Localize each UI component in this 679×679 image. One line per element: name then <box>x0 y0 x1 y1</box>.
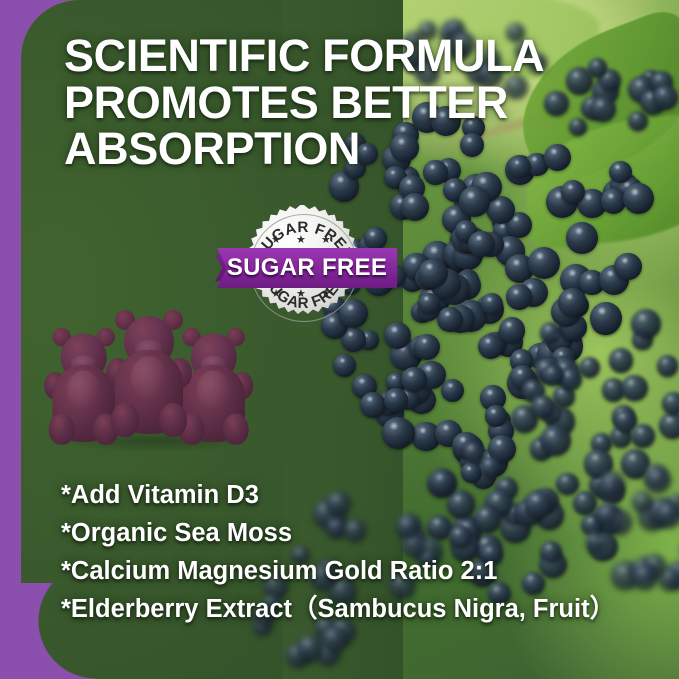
berry <box>653 85 678 110</box>
berry <box>579 357 600 378</box>
badge-ribbon-text: SUGAR FREE <box>217 248 397 288</box>
feature-list: *Add Vitamin D3 *Organic Sea Moss *Calci… <box>61 477 615 629</box>
berry <box>418 259 448 289</box>
content-panel: SCIENTIFIC FORMULA PROMOTES BETTER ABSOR… <box>21 0 679 679</box>
berry <box>528 247 561 280</box>
berry <box>631 309 662 340</box>
berry <box>418 293 439 314</box>
berry <box>485 405 506 426</box>
berry <box>657 355 679 377</box>
headline-line-2: PROMOTES BETTER <box>64 80 604 127</box>
berry <box>540 425 571 456</box>
list-item: *Organic Sea Moss <box>61 515 615 553</box>
berry <box>628 111 648 131</box>
berry <box>540 322 562 344</box>
berry <box>662 392 679 415</box>
berry <box>401 193 429 221</box>
berry <box>499 317 526 344</box>
berry <box>459 186 491 218</box>
page-title: SCIENTIFIC FORMULA PROMOTES BETTER ABSOR… <box>64 33 604 173</box>
berry <box>632 491 653 512</box>
gummy-bear <box>107 302 191 434</box>
berry <box>614 253 641 280</box>
berry <box>463 442 484 463</box>
berry <box>481 293 503 315</box>
berry <box>480 457 501 478</box>
berry <box>441 379 464 402</box>
berry <box>566 222 598 254</box>
badge-ribbon: SUGAR FREE <box>217 248 397 288</box>
headline-line-3: ABSORPTION <box>64 126 604 173</box>
list-item: *Elderberry Extract（Sambucus Nigra, Frui… <box>61 591 615 629</box>
headline-line-1: SCIENTIFIC FORMULA <box>64 33 604 80</box>
berry <box>609 161 632 184</box>
berry <box>621 375 648 402</box>
list-item: *Calcium Magnesium Gold Ratio 2:1 <box>61 553 615 591</box>
berry <box>632 564 658 590</box>
berry <box>382 417 414 449</box>
berry <box>401 367 426 392</box>
berry <box>655 501 679 528</box>
berry <box>321 626 348 653</box>
berry <box>468 231 495 258</box>
berry <box>333 354 356 377</box>
list-item: *Add Vitamin D3 <box>61 477 615 515</box>
badge-stars-bottom: ★ ★ ★ <box>241 289 367 300</box>
berry <box>659 412 679 440</box>
berry <box>384 388 408 412</box>
sugar-free-badge: SUGAR FREE SUGAR FREE ★ ★ ★ ★ ★ ★ SUGAR … <box>217 198 397 338</box>
berry <box>623 183 654 214</box>
berry <box>437 307 462 332</box>
berry <box>590 302 622 334</box>
berry <box>414 334 440 360</box>
berry <box>609 348 633 372</box>
berry <box>645 467 671 493</box>
berry <box>506 284 532 310</box>
berry <box>478 334 503 359</box>
badge-stars-top: ★ ★ ★ <box>241 235 367 246</box>
berry <box>297 635 324 662</box>
berry <box>631 424 655 448</box>
product-banner: SCIENTIFIC FORMULA PROMOTES BETTER ABSOR… <box>0 0 679 679</box>
